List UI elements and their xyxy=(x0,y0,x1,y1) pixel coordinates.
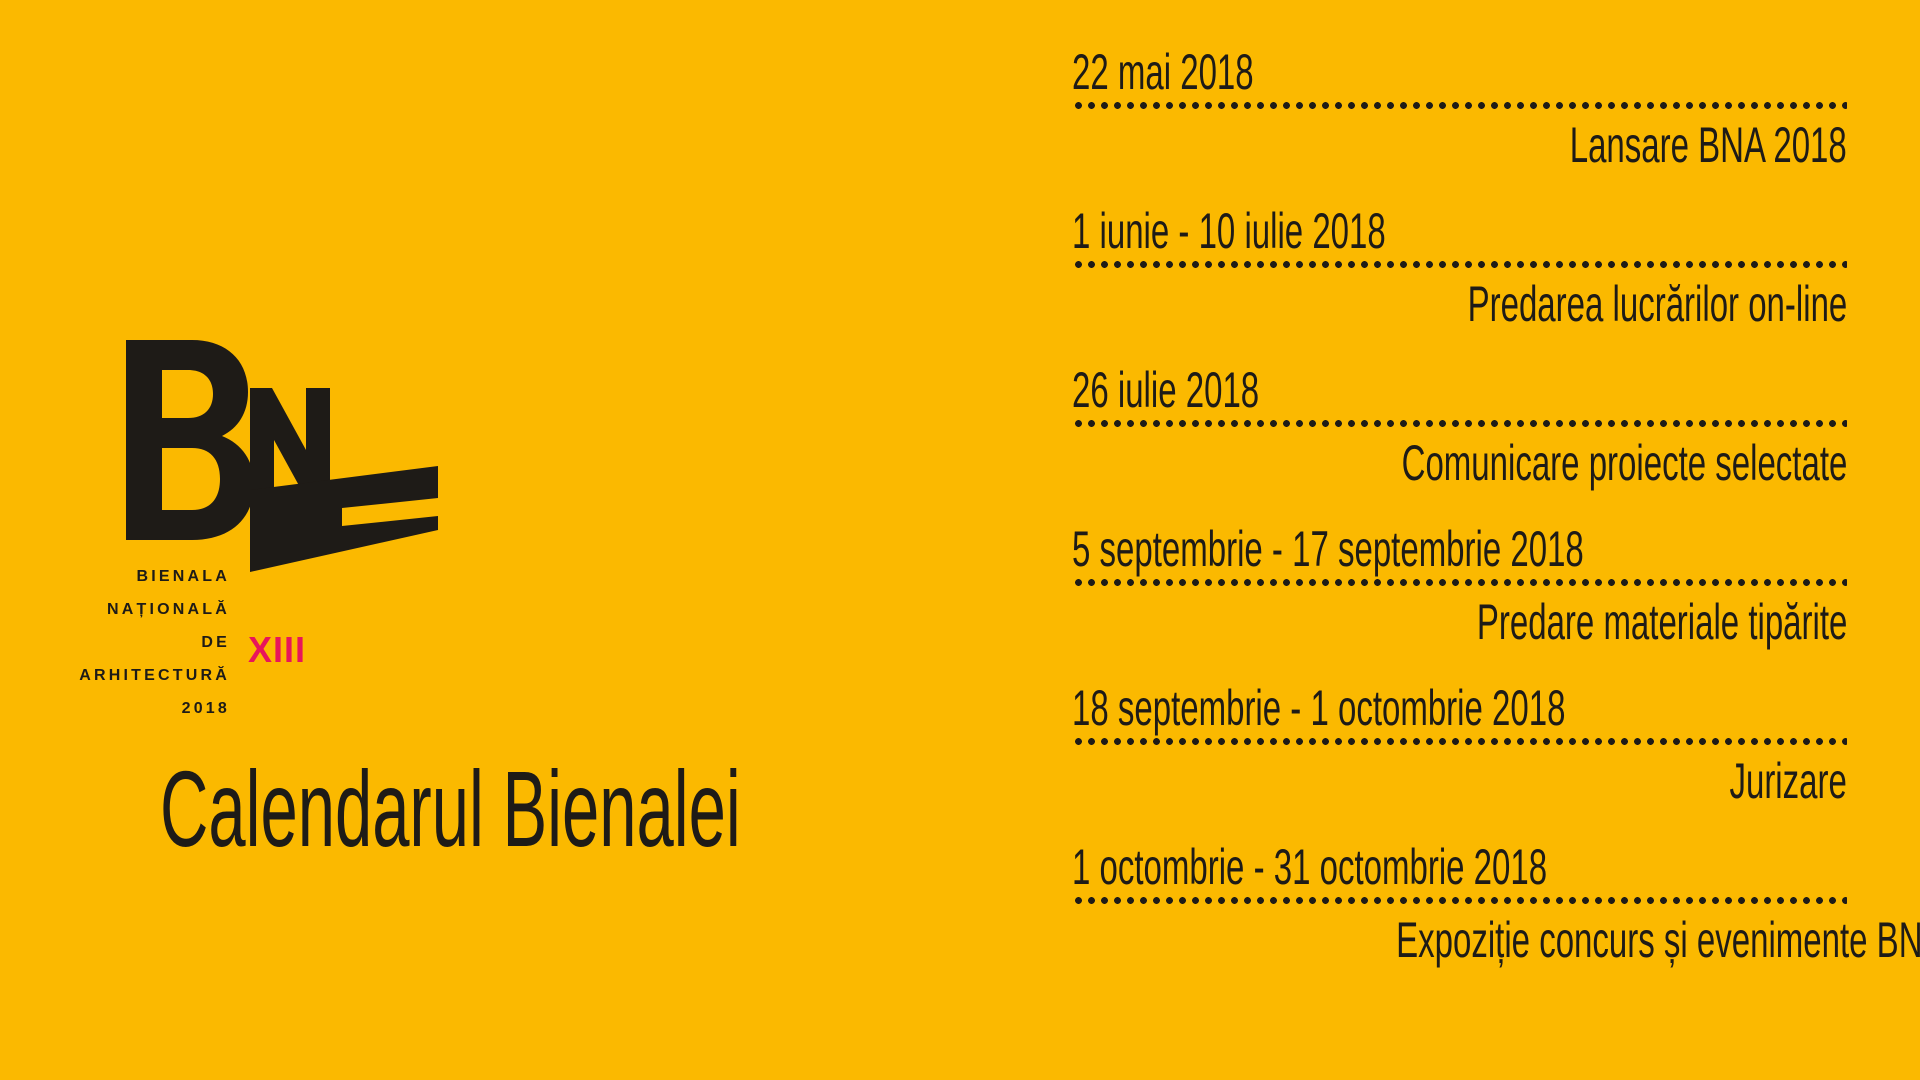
calendar-event: Expoziție concurs și evenimente BNA 2018 xyxy=(1396,914,1920,967)
wordmark-line-bienala: BIENALA xyxy=(70,560,230,593)
poster-left-panel: BIENALA NAȚIONALĂ DE ARHITECTURĂ 2018 XI… xyxy=(0,0,1060,1080)
dotted-separator xyxy=(1072,102,1847,109)
calendar-list: 22 mai 2018 Lansare BNA 2018 1 iunie - 1… xyxy=(1072,46,1847,966)
calendar-event-row: Expoziție concurs și evenimente BNA 2018 xyxy=(1072,914,1847,967)
calendar-date: 18 septembrie - 1 octombrie 2018 xyxy=(1072,682,1847,735)
calendar-entry: 1 octombrie - 31 octombrie 2018 Expoziți… xyxy=(1072,841,1847,966)
calendar-event-row: Predarea lucrărilor on-line xyxy=(1072,278,1847,331)
dotted-separator xyxy=(1072,579,1847,586)
calendar-date: 1 iunie - 10 iulie 2018 xyxy=(1072,205,1847,258)
wordmark-line-year: 2018 xyxy=(70,692,230,725)
dotted-separator xyxy=(1072,897,1847,904)
calendar-event-row: Predare materiale tipărite xyxy=(1072,596,1847,649)
dotted-separator xyxy=(1072,420,1847,427)
dotted-separator xyxy=(1072,261,1847,268)
wordmark-line-arhitectura: ARHITECTURĂ xyxy=(70,659,230,692)
calendar-event: Comunicare proiecte selectate xyxy=(1401,437,1847,490)
calendar-entry: 5 septembrie - 17 septembrie 2018 Predar… xyxy=(1072,523,1847,648)
calendar-event: Predare materiale tipărite xyxy=(1476,596,1847,649)
calendar-event-row: Comunicare proiecte selectate xyxy=(1072,437,1847,490)
calendar-entry: 22 mai 2018 Lansare BNA 2018 xyxy=(1072,46,1847,171)
calendar-date: 5 septembrie - 17 septembrie 2018 xyxy=(1072,523,1847,576)
calendar-date: 22 mai 2018 xyxy=(1072,46,1847,99)
calendar-event-row: Jurizare xyxy=(1072,755,1847,808)
page-title: Calendarul Bienalei xyxy=(160,755,741,863)
calendar-date: 26 iulie 2018 xyxy=(1072,364,1847,417)
logo-letter-b xyxy=(126,340,254,540)
calendar-date: 1 octombrie - 31 octombrie 2018 xyxy=(1072,841,1847,894)
edition-number-xiii: XIII xyxy=(248,632,306,668)
calendar-event: Lansare BNA 2018 xyxy=(1570,119,1847,172)
calendar-entry: 18 septembrie - 1 octombrie 2018 Jurizar… xyxy=(1072,682,1847,807)
wordmark-line-de: DE xyxy=(70,626,230,659)
calendar-entry: 26 iulie 2018 Comunicare proiecte select… xyxy=(1072,364,1847,489)
calendar-event: Jurizare xyxy=(1730,755,1847,808)
calendar-event-row: Lansare BNA 2018 xyxy=(1072,119,1847,172)
bna-wordmark: BIENALA NAȚIONALĂ DE ARHITECTURĂ 2018 xyxy=(70,560,230,725)
calendar-event: Predarea lucrărilor on-line xyxy=(1467,278,1847,331)
logo-letter-a xyxy=(250,466,438,572)
wordmark-line-nationala: NAȚIONALĂ xyxy=(70,593,230,626)
calendar-entry: 1 iunie - 10 iulie 2018 Predarea lucrări… xyxy=(1072,205,1847,330)
bna-logo-mark xyxy=(118,340,438,590)
dotted-separator xyxy=(1072,738,1847,745)
